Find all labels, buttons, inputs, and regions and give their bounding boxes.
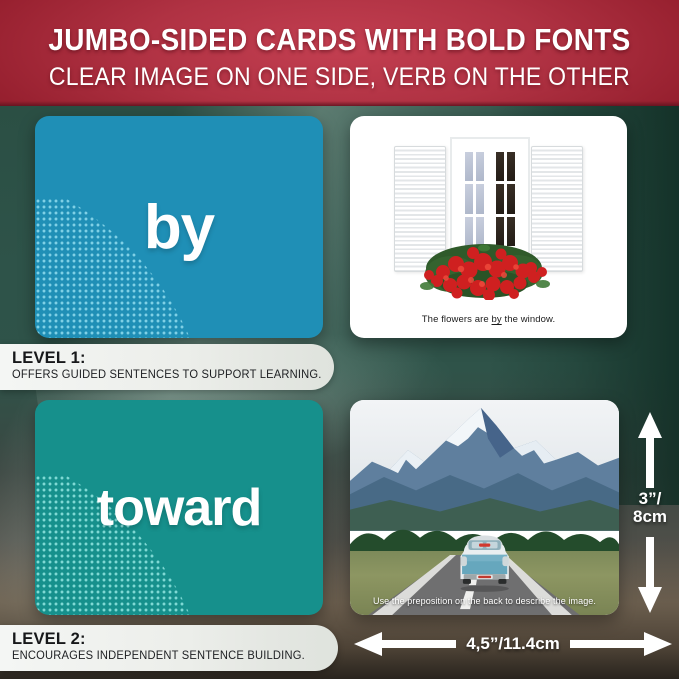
word-card-toward[interactable]: toward	[35, 400, 323, 615]
height-dimension-label: 3”/ 8cm	[630, 490, 670, 526]
promo-image: JUMBO-SIDED CARDS WITH BOLD FONTS CLEAR …	[0, 0, 679, 679]
red-geranium-flowers	[409, 220, 559, 300]
word-card-label: by	[144, 192, 214, 263]
header-subtitle: CLEAR IMAGE ON ONE SIDE, VERB ON THE OTH…	[27, 63, 652, 92]
level-1-banner: LEVEL 1: OFFERS GUIDED SENTENCES TO SUPP…	[0, 344, 334, 390]
level-2-title: LEVEL 2:	[12, 629, 313, 649]
level-1-title: LEVEL 1:	[12, 348, 309, 368]
road-mountain-photo	[350, 400, 619, 615]
level-1-description: OFFERS GUIDED SENTENCES TO SUPPORT LEARN…	[12, 368, 309, 383]
caption-keyword: by	[492, 314, 502, 325]
level-2-banner: LEVEL 2: ENCOURAGES INDEPENDENT SENTENCE…	[0, 625, 338, 671]
caption-text-before: The flowers are	[422, 314, 492, 325]
header-title: JUMBO-SIDED CARDS WITH BOLD FONTS	[34, 22, 645, 58]
level-2-description: ENCOURAGES INDEPENDENT SENTENCE BUILDING…	[12, 649, 313, 664]
header-banner: JUMBO-SIDED CARDS WITH BOLD FONTS CLEAR …	[0, 0, 679, 106]
photo-card-window[interactable]: The flowers are by the window.	[350, 116, 627, 338]
word-card-label: toward	[97, 478, 261, 538]
width-dimension-label: 4,5”/11.4cm	[352, 634, 674, 654]
height-dimension: 3”/ 8cm	[630, 410, 670, 615]
photo-card-road[interactable]: Use the preposition on the back to descr…	[350, 400, 619, 615]
height-label-line2: 8cm	[630, 508, 670, 526]
photo-caption-window: The flowers are by the window.	[350, 314, 627, 325]
photo-caption-road: Use the preposition on the back to descr…	[350, 596, 619, 606]
height-label-line1: 3”/	[630, 490, 670, 508]
caption-text-after: the window.	[502, 314, 555, 325]
width-dimension: 4,5”/11.4cm	[352, 625, 674, 667]
car-rear-view	[447, 529, 522, 594]
window-photo	[357, 124, 620, 302]
word-card-by[interactable]: by	[35, 116, 323, 338]
